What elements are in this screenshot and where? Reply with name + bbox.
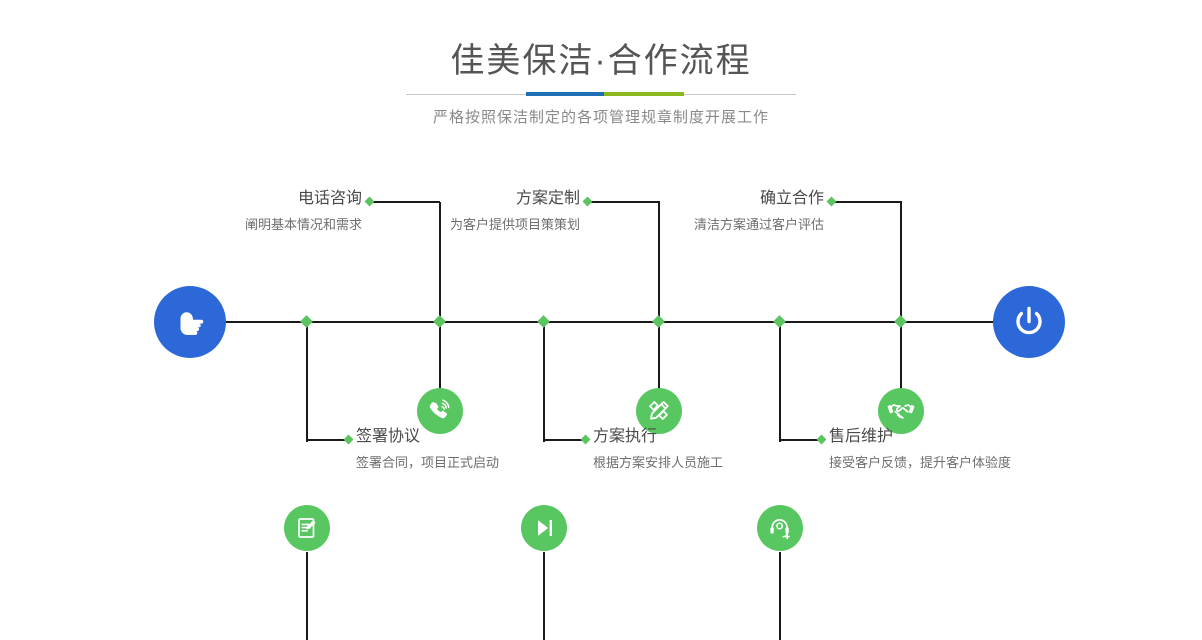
power-icon <box>1008 301 1050 343</box>
flow-start-node <box>154 286 226 358</box>
step-2-stem-lower <box>306 552 308 640</box>
step-2-arm <box>306 439 348 441</box>
step-5-axis-diamond <box>894 315 907 328</box>
step-2-axis-diamond <box>300 315 313 328</box>
divider-blue-segment <box>526 92 604 96</box>
step-5-title: 确立合作 <box>530 188 824 210</box>
play-execute-icon <box>531 515 557 541</box>
title-divider <box>406 94 796 95</box>
pointing-hand-icon <box>170 302 210 342</box>
step-6-desc: 接受客户反馈，提升客户体验度 <box>829 448 1149 472</box>
page-subtitle: 严格按照保洁制定的各项管理规章制度开展工作 <box>0 95 1202 129</box>
step-6-axis-diamond <box>773 315 786 328</box>
step-6-icon-circle[interactable] <box>757 505 803 551</box>
step-3-axis-diamond <box>652 315 665 328</box>
step-1-axis-diamond <box>433 315 446 328</box>
step-4-stem <box>543 322 545 442</box>
page-title: 佳美保洁·合作流程 <box>0 0 1202 84</box>
step-2-stem <box>306 322 308 442</box>
step-6-stem-lower <box>779 552 781 640</box>
customer-service-icon <box>767 515 793 541</box>
flow-diagram: 电话咨询 阐明基本情况和需求 签署协议 签署合同，项目正式启动 <box>0 150 1202 502</box>
step-5-stem <box>900 202 902 392</box>
step-5-label: 确立合作 清洁方案通过客户评估 <box>530 188 824 234</box>
step-4-icon-circle[interactable] <box>521 505 567 551</box>
step-2-icon-circle[interactable] <box>284 505 330 551</box>
handshake-icon <box>887 397 915 425</box>
step-5-arm <box>832 201 902 203</box>
page-header: 佳美保洁·合作流程 严格按照保洁制定的各项管理规章制度开展工作 <box>0 0 1202 129</box>
step-6-label: 售后维护 接受客户反馈，提升客户体验度 <box>829 426 1149 472</box>
document-pen-icon <box>294 515 320 541</box>
step-6-stem <box>779 322 781 442</box>
step-5-desc: 清洁方案通过客户评估 <box>530 210 824 234</box>
pencil-ruler-icon <box>646 398 672 424</box>
step-4-axis-diamond <box>537 315 550 328</box>
step-6-title: 售后维护 <box>829 426 1149 448</box>
divider-green-segment <box>604 92 684 96</box>
step-5-label-diamond <box>827 197 837 207</box>
cooperation-flow-infographic: 佳美保洁·合作流程 严格按照保洁制定的各项管理规章制度开展工作 <box>0 0 1202 502</box>
step-4-stem-lower <box>543 552 545 640</box>
flow-end-node <box>993 286 1065 358</box>
phone-call-icon <box>427 398 453 424</box>
step-2-label-diamond <box>344 435 354 445</box>
